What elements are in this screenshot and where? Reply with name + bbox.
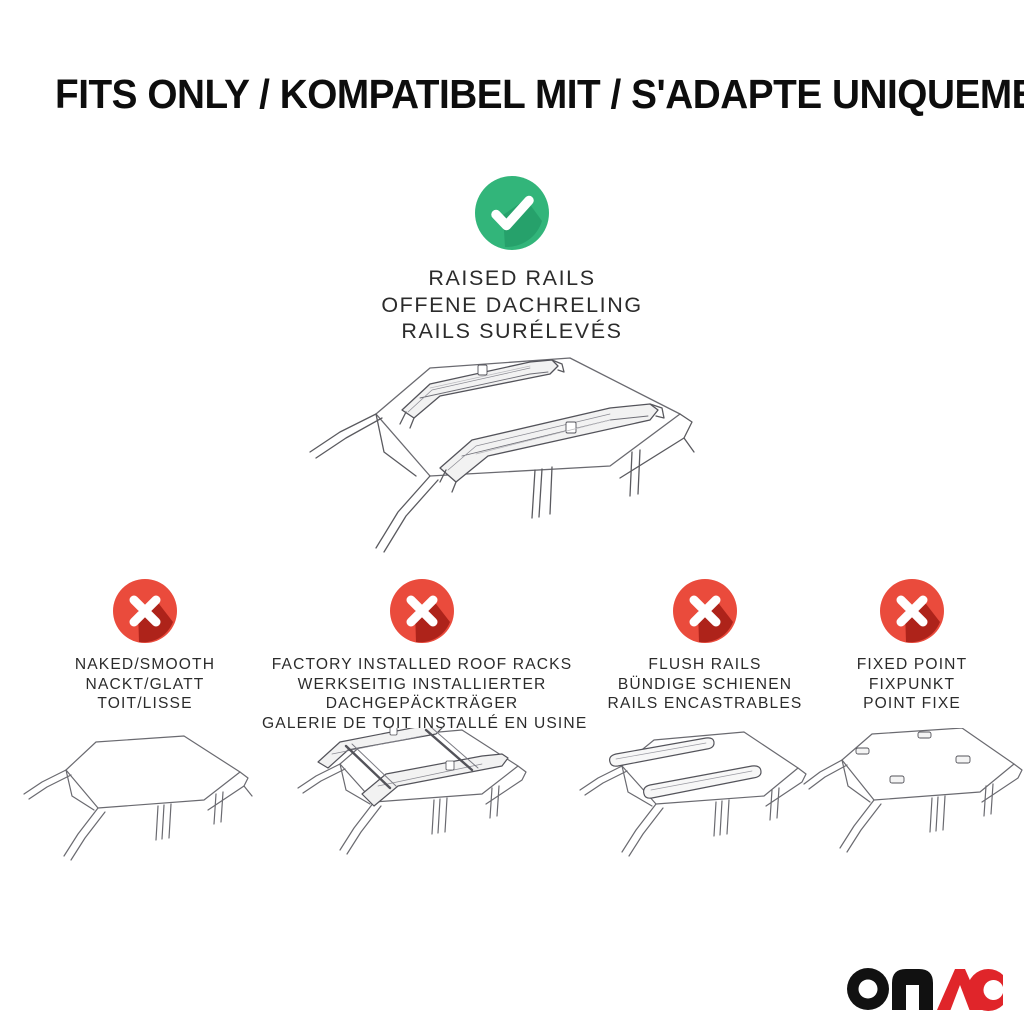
incompatible-labels-fixed-point: FIXED POINT FIXPUNKT POINT FIXE	[822, 655, 1002, 714]
incompatible-column-flush-rails: FLUSH RAILS BÜNDIGE SCHIENEN RAILS ENCAS…	[592, 578, 818, 714]
compatible-label-en: RAISED RAILS	[262, 265, 762, 292]
cross-circle-icon	[879, 578, 945, 644]
label-en: NAKED/SMOOTH	[35, 655, 255, 675]
label-de: NACKT/GLATT	[35, 675, 255, 695]
incompatible-column-factory-racks: FACTORY INSTALLED ROOF RACKS WERKSEITIG …	[262, 578, 582, 733]
label-en: FLUSH RAILS	[592, 655, 818, 675]
compatibility-infographic: FITS ONLY / KOMPATIBEL MIT / S'ADAPTE UN…	[0, 0, 1024, 1024]
compatible-label-de: OFFENE DACHRELING	[262, 292, 762, 319]
incompatible-labels-factory-racks: FACTORY INSTALLED ROOF RACKS WERKSEITIG …	[262, 655, 582, 733]
label-de: BÜNDIGE SCHIENEN	[592, 675, 818, 695]
compatible-section: RAISED RAILS OFFENE DACHRELING RAILS SUR…	[262, 175, 762, 345]
car-roof-factory-racks-illustration	[282, 728, 560, 878]
label-fr: RAILS ENCASTRABLES	[592, 694, 818, 714]
label-en: FACTORY INSTALLED ROOF RACKS	[262, 655, 582, 675]
car-roof-fixed-point-illustration	[800, 728, 1024, 878]
car-roof-naked-illustration	[8, 728, 270, 878]
incompatible-labels-flush-rails: FLUSH RAILS BÜNDIGE SCHIENEN RAILS ENCAS…	[592, 655, 818, 714]
compatible-labels: RAISED RAILS OFFENE DACHRELING RAILS SUR…	[262, 265, 762, 345]
omac-logo	[845, 963, 1005, 1015]
cross-circle-icon	[389, 578, 455, 644]
label-fr: POINT FIXE	[822, 694, 1002, 714]
incompatible-column-naked-smooth: NAKED/SMOOTH NACKT/GLATT TOIT/LISSE	[35, 578, 255, 714]
compatible-label-fr: RAILS SURÉLEVÉS	[262, 318, 762, 345]
incompatible-column-fixed-point: FIXED POINT FIXPUNKT POINT FIXE	[822, 578, 1002, 714]
cross-circle-icon	[112, 578, 178, 644]
check-circle-icon	[474, 175, 550, 251]
page-title: FITS ONLY / KOMPATIBEL MIT / S'ADAPTE UN…	[55, 72, 934, 116]
cross-circle-icon	[672, 578, 738, 644]
label-en: FIXED POINT	[822, 655, 1002, 675]
label-de: FIXPUNKT	[822, 675, 1002, 695]
label-de-2: DACHGEPÄCKTRÄGER	[262, 694, 582, 714]
incompatible-labels-naked-smooth: NAKED/SMOOTH NACKT/GLATT TOIT/LISSE	[35, 655, 255, 714]
label-de-1: WERKSEITIG INSTALLIERTER	[262, 675, 582, 695]
car-roof-raised-rails-illustration	[280, 348, 750, 568]
car-roof-flush-rails-illustration	[566, 728, 838, 878]
label-fr: TOIT/LISSE	[35, 694, 255, 714]
